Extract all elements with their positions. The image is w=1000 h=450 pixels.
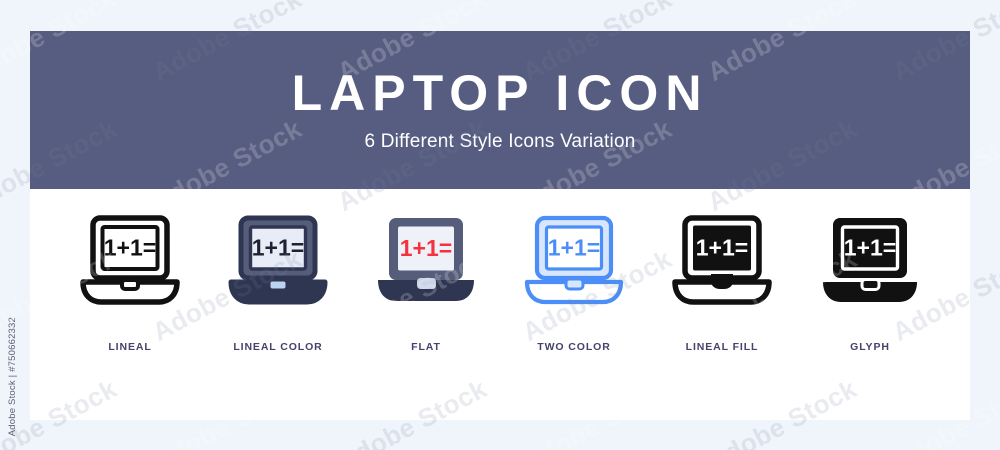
poster-card: LAPTOP ICON 6 Different Style Icons Vari… [30,31,970,420]
svg-text:1+1=: 1+1= [104,235,156,261]
svg-text:1+1=: 1+1= [696,235,748,261]
icon-cell-flat[interactable]: 1+1= FLAT [356,189,496,353]
poster-canvas: Adobe Stock | #750662332 LAPTOP ICON 6 D… [0,0,1000,450]
svg-text:1+1=: 1+1= [252,235,304,261]
svg-text:1+1=: 1+1= [844,235,896,261]
icon-label-lineal-color: LINEAL COLOR [233,341,322,353]
icon-cell-lineal[interactable]: 1+1= LINEAL [60,189,200,353]
icon-label-glyph: GLYPH [850,341,890,353]
icon-cell-lineal-fill[interactable]: 1+1= LINEAL FILL [652,189,792,353]
icon-label-two-color: TWO COLOR [537,341,610,353]
laptop-lineal-icon[interactable]: 1+1= [77,202,183,318]
stock-credit-watermark: Adobe Stock | #750662332 [2,0,22,450]
icon-cell-two-color[interactable]: 1+1= TWO COLOR [504,189,644,353]
icon-cell-lineal-color[interactable]: 1+1= LINEAL COLOR [208,189,348,353]
stock-credit-text: Adobe Stock | #750662332 [7,317,18,436]
svg-text:1+1=: 1+1= [400,235,452,261]
icon-cell-glyph[interactable]: 1+1= GLYPH [800,189,940,353]
icon-variations-grid: 1+1= LINEAL 1+1= [30,189,970,420]
laptop-flat-icon[interactable]: 1+1= [373,202,479,318]
laptop-lineal-fill-icon[interactable]: 1+1= [669,202,775,318]
laptop-lineal-color-icon[interactable]: 1+1= [225,202,331,318]
laptop-two-color-icon[interactable]: 1+1= [521,202,627,318]
icon-label-lineal: LINEAL [108,341,151,353]
poster-header: LAPTOP ICON 6 Different Style Icons Vari… [30,31,970,189]
page-title: LAPTOP ICON [292,68,709,118]
laptop-glyph-icon[interactable]: 1+1= [817,202,923,318]
icon-label-flat: FLAT [411,341,441,353]
svg-text:1+1=: 1+1= [548,235,600,261]
icon-label-lineal-fill: LINEAL FILL [686,341,759,353]
page-subtitle: 6 Different Style Icons Variation [365,131,636,153]
